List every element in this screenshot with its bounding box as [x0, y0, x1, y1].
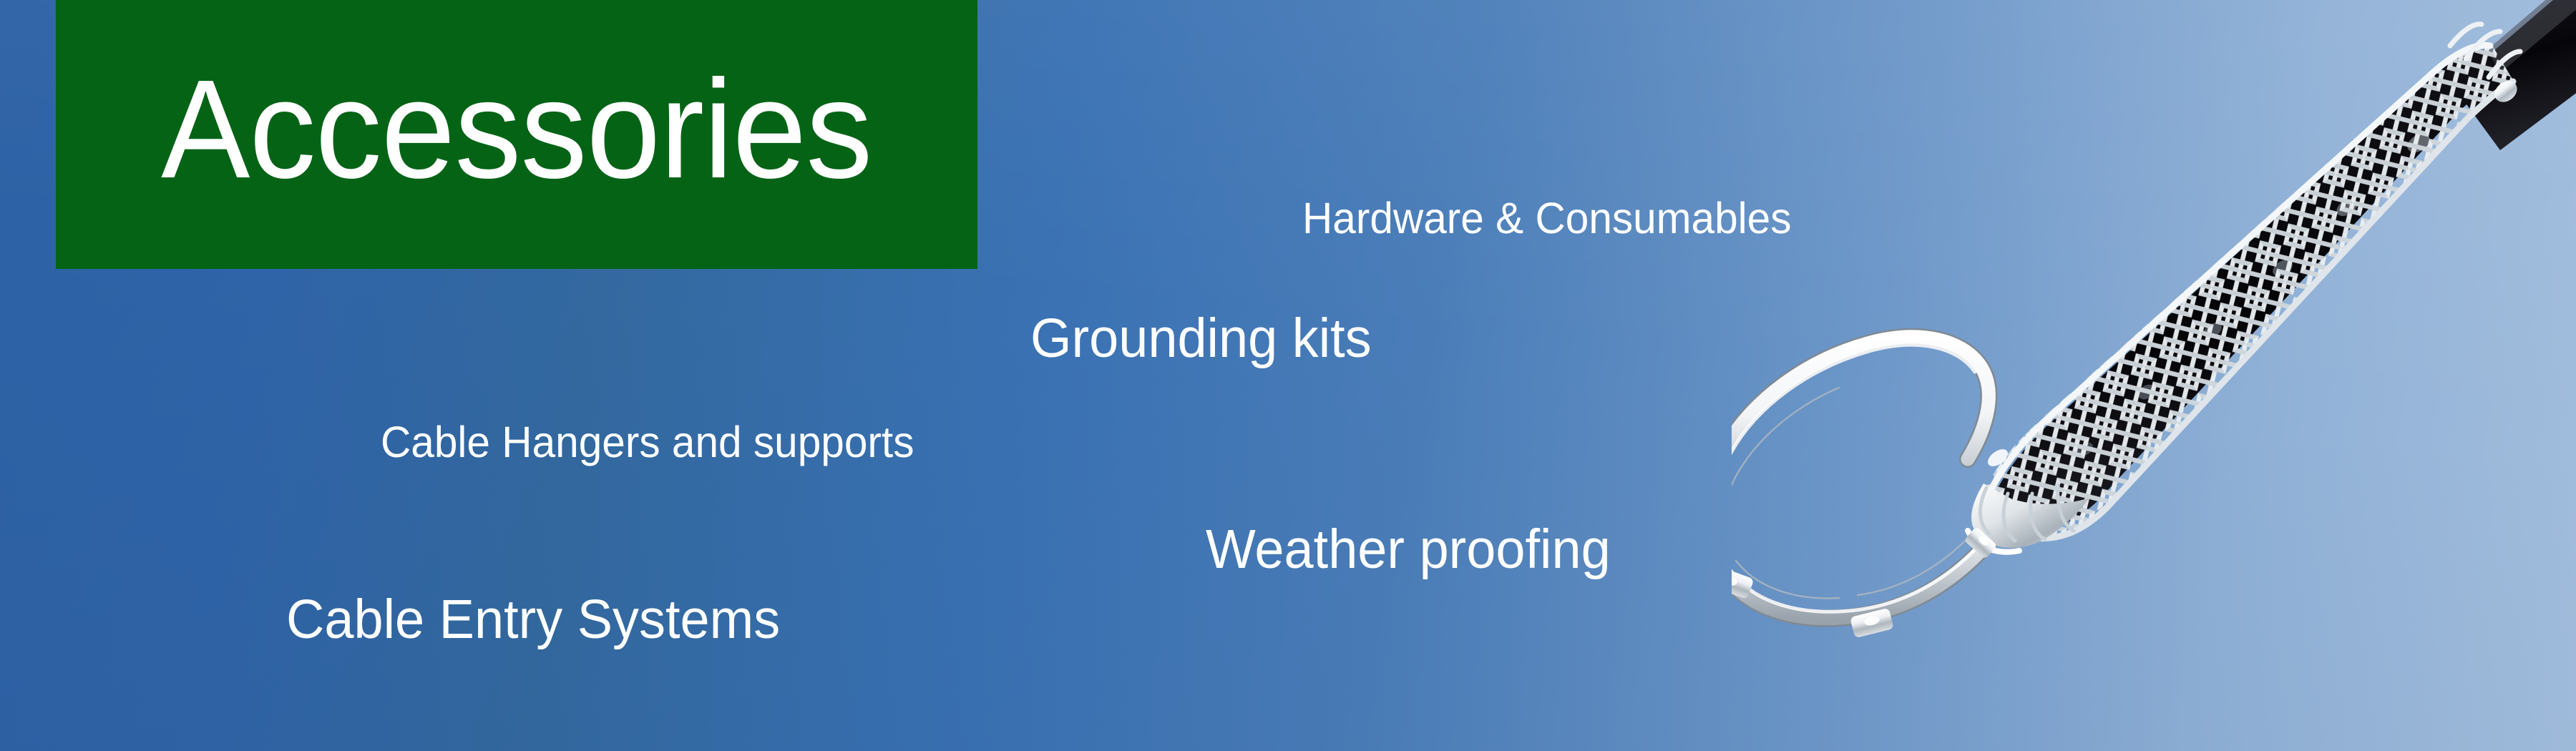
title-plate: Accessories	[56, 0, 977, 269]
page-title: Accessories	[161, 59, 872, 200]
accessories-banner: Accessories Hardware & Consumables Groun…	[0, 0, 2576, 751]
category-label-grounding-kits[interactable]: Grounding kits	[1030, 311, 1372, 366]
category-label-hardware-consumables[interactable]: Hardware & Consumables	[1302, 197, 1792, 240]
category-label-cable-hangers-and-supports[interactable]: Cable Hangers and supports	[381, 421, 914, 464]
category-label-weather-proofing[interactable]: Weather proofing	[1206, 522, 1611, 577]
category-label-cable-entry-systems[interactable]: Cable Entry Systems	[286, 592, 780, 647]
